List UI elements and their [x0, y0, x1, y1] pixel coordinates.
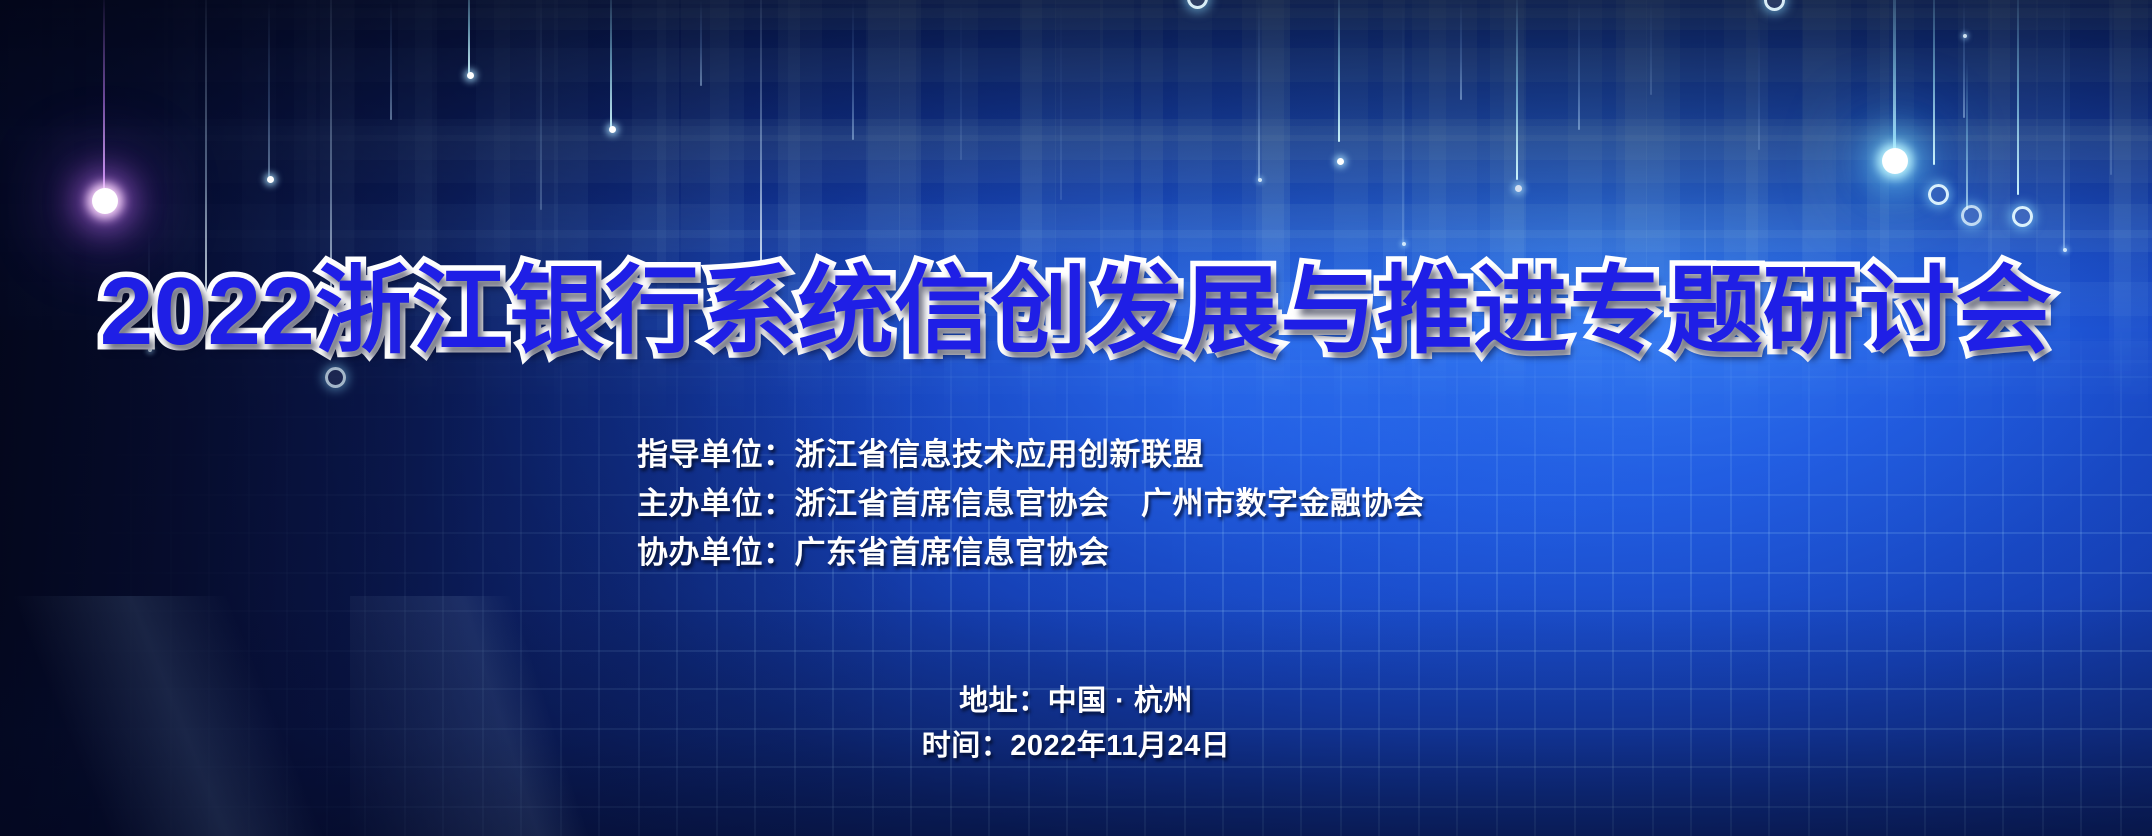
event-location: 地址：中国 · 杭州 [0, 679, 2152, 724]
page-title: 2022浙江银行系统信创发展与推进专题研讨会 [0, 260, 2152, 364]
organizer-line-guidance: 指导单位：浙江省信息技术应用创新联盟 [637, 430, 1425, 479]
organizer-block: 指导单位：浙江省信息技术应用创新联盟 主办单位：浙江省首席信息官协会 广州市数字… [637, 430, 1425, 577]
event-meta-block: 地址：中国 · 杭州 时间：2022年11月24日 [0, 679, 2152, 769]
event-date: 时间：2022年11月24日 [0, 724, 2152, 769]
poster-content: 2022浙江银行系统信创发展与推进专题研讨会 指导单位：浙江省信息技术应用创新联… [0, 0, 2152, 836]
event-poster: 2022浙江银行系统信创发展与推进专题研讨会 指导单位：浙江省信息技术应用创新联… [0, 0, 2152, 836]
organizer-line-host: 主办单位：浙江省首席信息官协会 广州市数字金融协会 [637, 479, 1425, 528]
organizer-line-cohost: 协办单位：广东省首席信息官协会 [637, 528, 1425, 577]
